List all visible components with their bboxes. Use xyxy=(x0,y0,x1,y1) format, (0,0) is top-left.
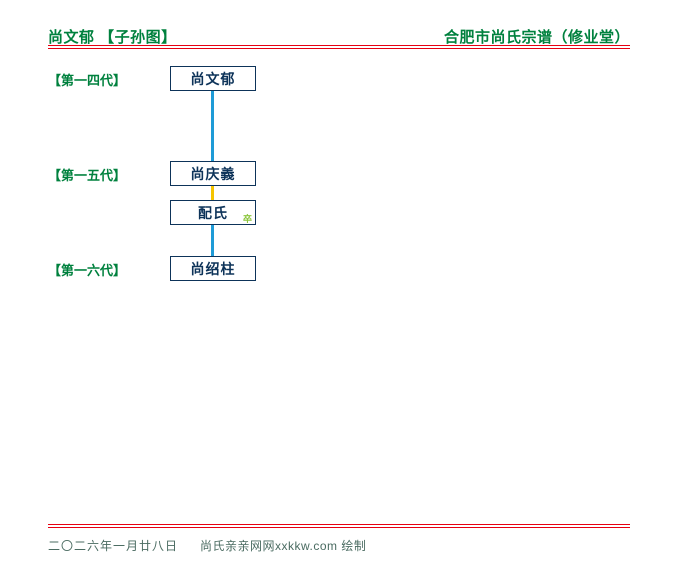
person-box-shang-shaozhu[interactable]: 尚绍柱 xyxy=(170,256,256,281)
person-box-shang-wenyu[interactable]: 尚文郁 xyxy=(170,66,256,91)
connector-spouse-15 xyxy=(211,186,214,200)
footer: 二〇二六年一月廿八日 尚氏亲亲网网xxkkw.com 绘制 xyxy=(48,537,630,555)
person-name-label: 尚文郁 xyxy=(171,69,255,89)
connector-descent-15-to-16 xyxy=(211,225,214,256)
person-name-label: 尚庆義 xyxy=(171,164,255,184)
genealogy-tree: 【第一四代】 【第一五代】 【第一六代】 尚文郁 尚庆義 配氏 卒 尚绍柱 xyxy=(0,0,680,580)
person-name-label: 尚绍柱 xyxy=(171,259,255,279)
footer-rule-bottom xyxy=(48,527,630,528)
footer-credit: 尚氏亲亲网网xxkkw.com 绘制 xyxy=(200,537,366,554)
generation-label-14: 【第一四代】 xyxy=(48,70,126,89)
person-box-spouse-pei[interactable]: 配氏 卒 xyxy=(170,200,256,225)
generation-label-16: 【第一六代】 xyxy=(48,260,126,279)
generation-label-15: 【第一五代】 xyxy=(48,165,126,184)
footer-divider xyxy=(48,524,630,528)
connector-descent-14-to-15 xyxy=(211,91,214,161)
footer-date: 二〇二六年一月廿八日 xyxy=(48,537,178,554)
person-box-shang-qingyi[interactable]: 尚庆義 xyxy=(170,161,256,186)
spouse-status-mark: 卒 xyxy=(243,215,252,224)
